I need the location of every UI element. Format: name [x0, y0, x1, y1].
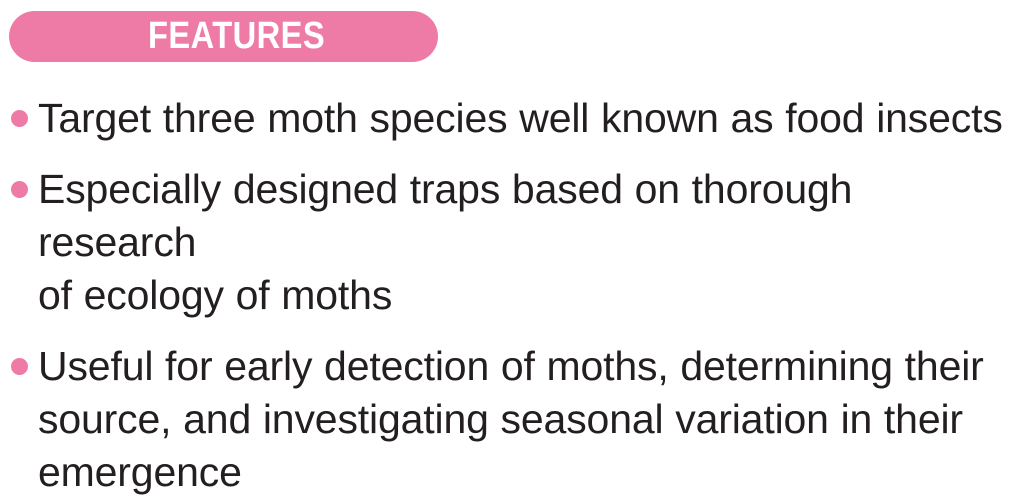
features-header-text: FEATURES — [148, 17, 325, 55]
features-panel: FEATURES Target three moth species well … — [0, 0, 1009, 452]
dot-bullet-icon — [11, 358, 28, 375]
list-item-text: Especially designed traps based on thoro… — [38, 163, 1009, 322]
features-list: Target three moth species well known as … — [0, 92, 1009, 499]
dot-bullet-icon — [11, 110, 28, 127]
list-item: Target three moth species well known as … — [0, 92, 1009, 145]
features-header-label: FEATURES — [148, 17, 354, 55]
dot-bullet-icon — [11, 181, 28, 198]
list-item-text: Useful for early detection of moths, det… — [38, 340, 1009, 499]
features-header-pill: FEATURES — [9, 11, 438, 62]
list-item: Useful for early detection of moths, det… — [0, 340, 1009, 499]
list-item-text: Target three moth species well known as … — [38, 92, 1009, 145]
list-item: Especially designed traps based on thoro… — [0, 163, 1009, 322]
